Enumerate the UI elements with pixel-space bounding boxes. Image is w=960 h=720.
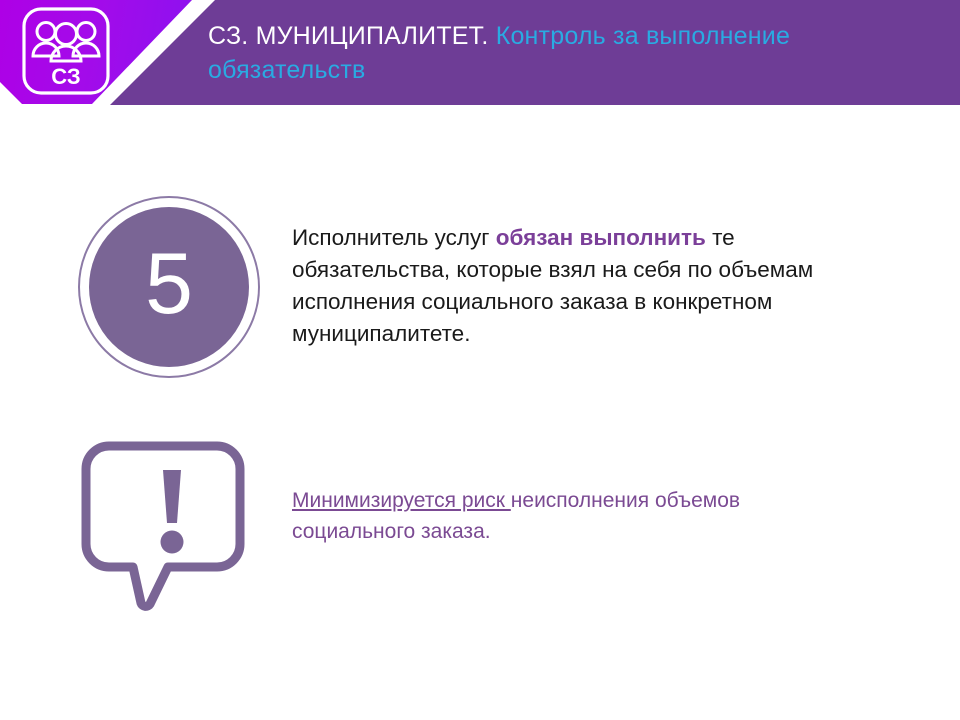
badge-number-label: 5 [145,241,193,333]
badge-disc: 5 [89,207,249,367]
note-paragraph: Минимизируется риск неисполнения объемов… [292,485,812,547]
slide-canvas: СЗ СЗ. МУНИЦИПАЛИТЕТ. Контроль за выполн… [0,0,960,720]
page-title: СЗ. МУНИЦИПАЛИТЕТ. Контроль за выполнени… [208,19,868,87]
logo-plate: СЗ [0,0,200,104]
exclamation-speech-bubble-icon [78,438,258,614]
header-band: СЗ СЗ. МУНИЦИПАЛИТЕТ. Контроль за выполн… [0,0,960,105]
svg-text:СЗ: СЗ [51,64,80,89]
three-people-icon: СЗ [20,5,112,97]
page-title-main: СЗ. МУНИЦИПАЛИТЕТ. [208,22,489,50]
body-emphasis-text: обязан выполнить [496,225,706,250]
body-paragraph: Исполнитель услуг обязан выполнить те об… [292,222,852,350]
note-underlined-text: Минимизируется риск [292,489,511,512]
step-number-badge: 5 [78,196,264,382]
body-lead-text: Исполнитель услуг [292,225,496,250]
